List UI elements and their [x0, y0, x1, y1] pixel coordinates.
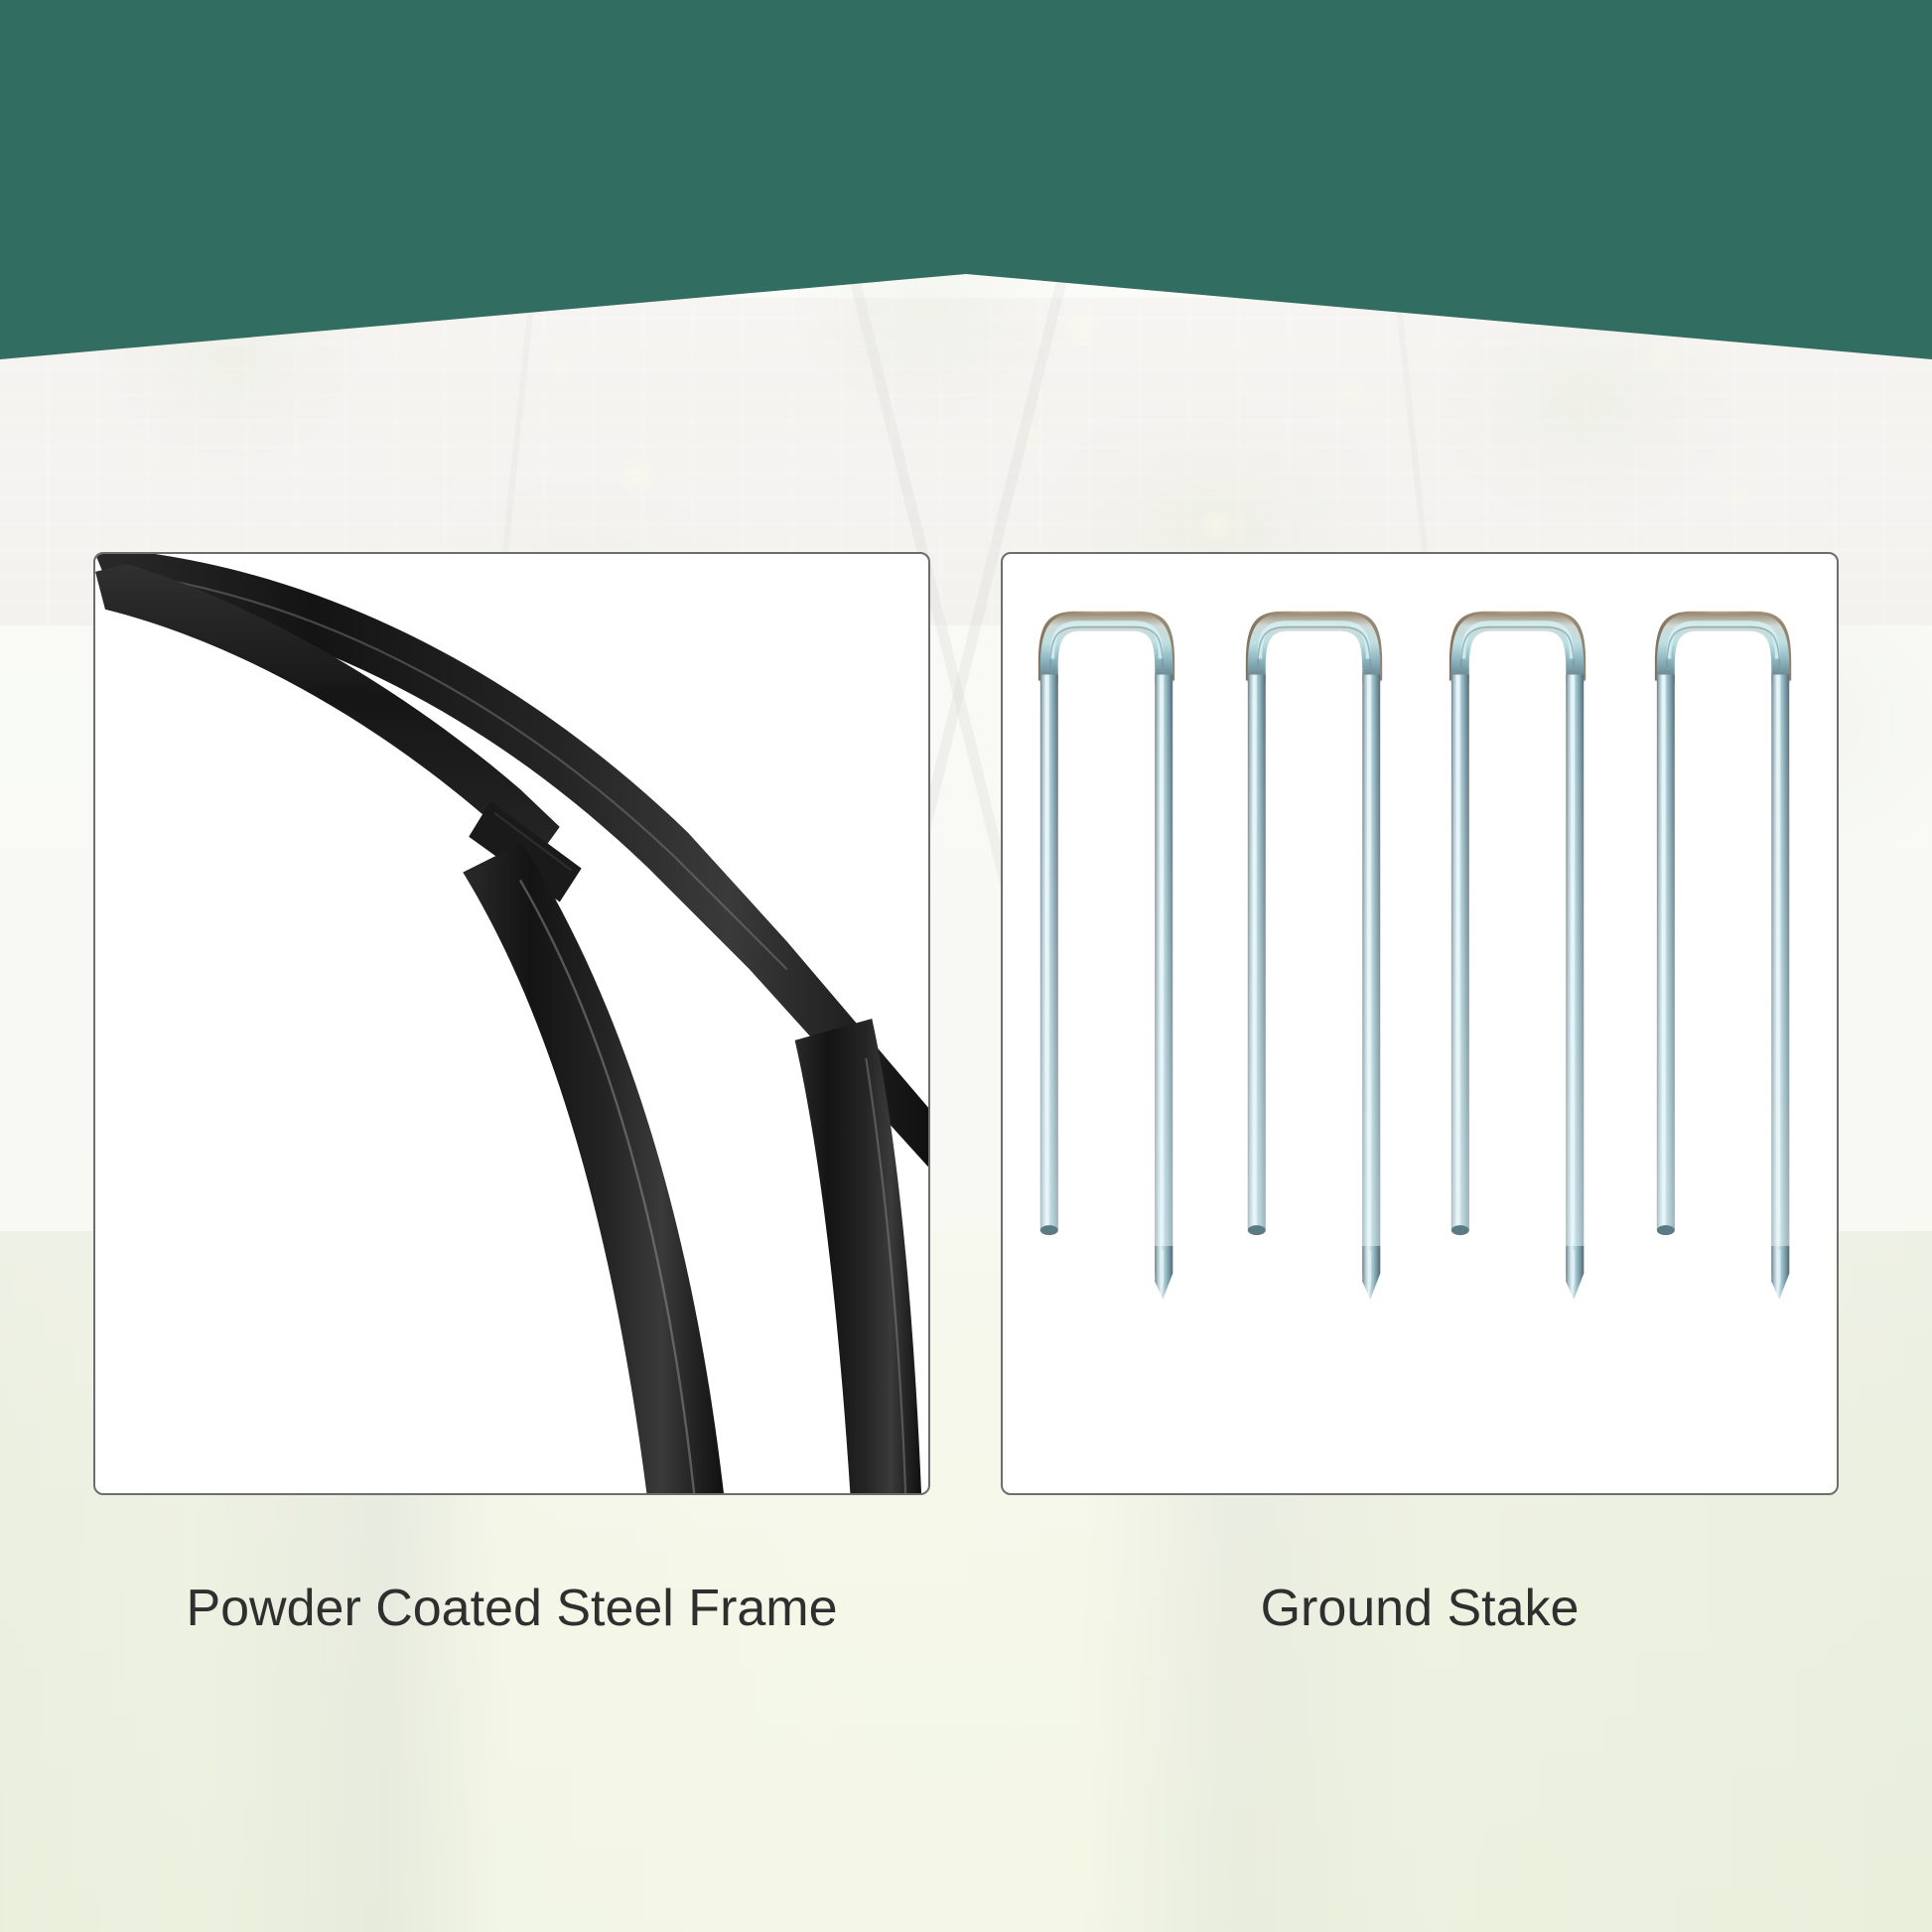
feature-panels: Powder Coated Steel Frame Ground Stake: [0, 0, 1932, 1932]
caption-powder-coated-steel-frame: Powder Coated Steel Frame: [93, 1579, 930, 1638]
panel-powder-coated-steel-frame: [93, 552, 930, 1495]
infographic-stage: STABLE STRUCTURE: [0, 0, 1932, 1932]
caption-ground-stake: Ground Stake: [1001, 1579, 1839, 1638]
panel-ground-stake: [1001, 552, 1839, 1495]
steel-frame-illustration: [95, 554, 928, 1493]
ground-stake-4: [1655, 612, 1791, 1300]
ground-stake-illustration: [1003, 554, 1837, 1493]
ground-stake-2: [1246, 612, 1382, 1300]
ground-stake-1: [1038, 612, 1174, 1300]
main-curved-leg-tube: [463, 843, 724, 1493]
ground-stake-3: [1449, 612, 1586, 1300]
